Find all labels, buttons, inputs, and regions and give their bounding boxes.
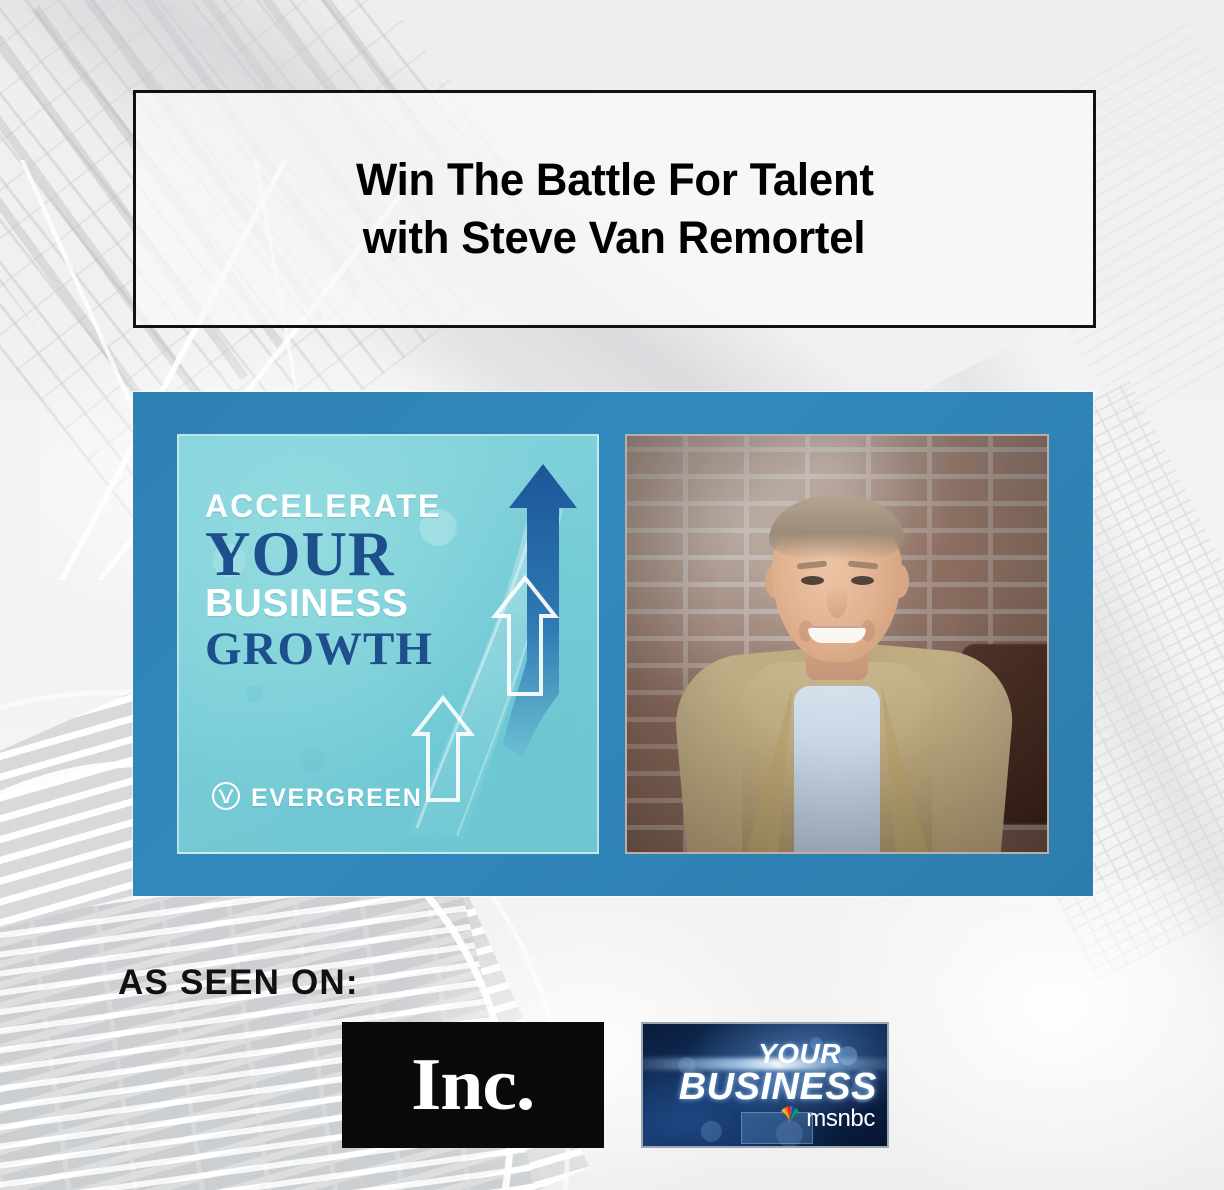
msnbc-lockup: msnbc — [779, 1105, 875, 1132]
cover-line-accelerate: ACCELERATE — [205, 490, 487, 522]
nbc-peacock-icon — [779, 1105, 801, 1132]
as-seen-on-label: AS SEEN ON: — [118, 963, 359, 1003]
promo-graphic: Win The Battle For Talent with Steve Van… — [0, 0, 1224, 1190]
cover-art-text-block: ACCELERATE YOUR BUSINESS GROWTH — [205, 490, 487, 674]
cover-line-business: BUSINESS — [205, 584, 487, 624]
media-panel: ACCELERATE YOUR BUSINESS GROWTH EVERGRE — [133, 392, 1093, 896]
guest-portrait-photo — [625, 434, 1049, 854]
cover-line-growth: GROWTH — [205, 625, 487, 674]
title-line-2: with Steve Van Remortel — [363, 209, 866, 268]
cover-line-your: YOUR — [205, 524, 487, 584]
photo-soft-overlay — [627, 436, 1047, 852]
logo-inc: Inc. — [342, 1022, 604, 1148]
title-card: Win The Battle For Talent with Steve Van… — [133, 90, 1096, 328]
inc-wordmark: Inc. — [411, 1048, 534, 1122]
evergreen-logo-icon — [211, 781, 241, 816]
your-business-wordmark: YOUR BUSINESS — [679, 1040, 877, 1107]
your-business-line-2: BUSINESS — [679, 1068, 877, 1107]
evergreen-brand-lockup: EVERGREEN — [211, 781, 422, 816]
title-line-1: Win The Battle For Talent — [356, 151, 874, 210]
msnbc-wordmark: msnbc — [806, 1107, 875, 1131]
logo-your-business-msnbc: YOUR BUSINESS msnbc — [641, 1022, 889, 1148]
podcast-cover-art: ACCELERATE YOUR BUSINESS GROWTH EVERGRE — [177, 434, 599, 854]
your-business-line-1: YOUR — [679, 1040, 841, 1068]
evergreen-wordmark: EVERGREEN — [251, 784, 422, 813]
